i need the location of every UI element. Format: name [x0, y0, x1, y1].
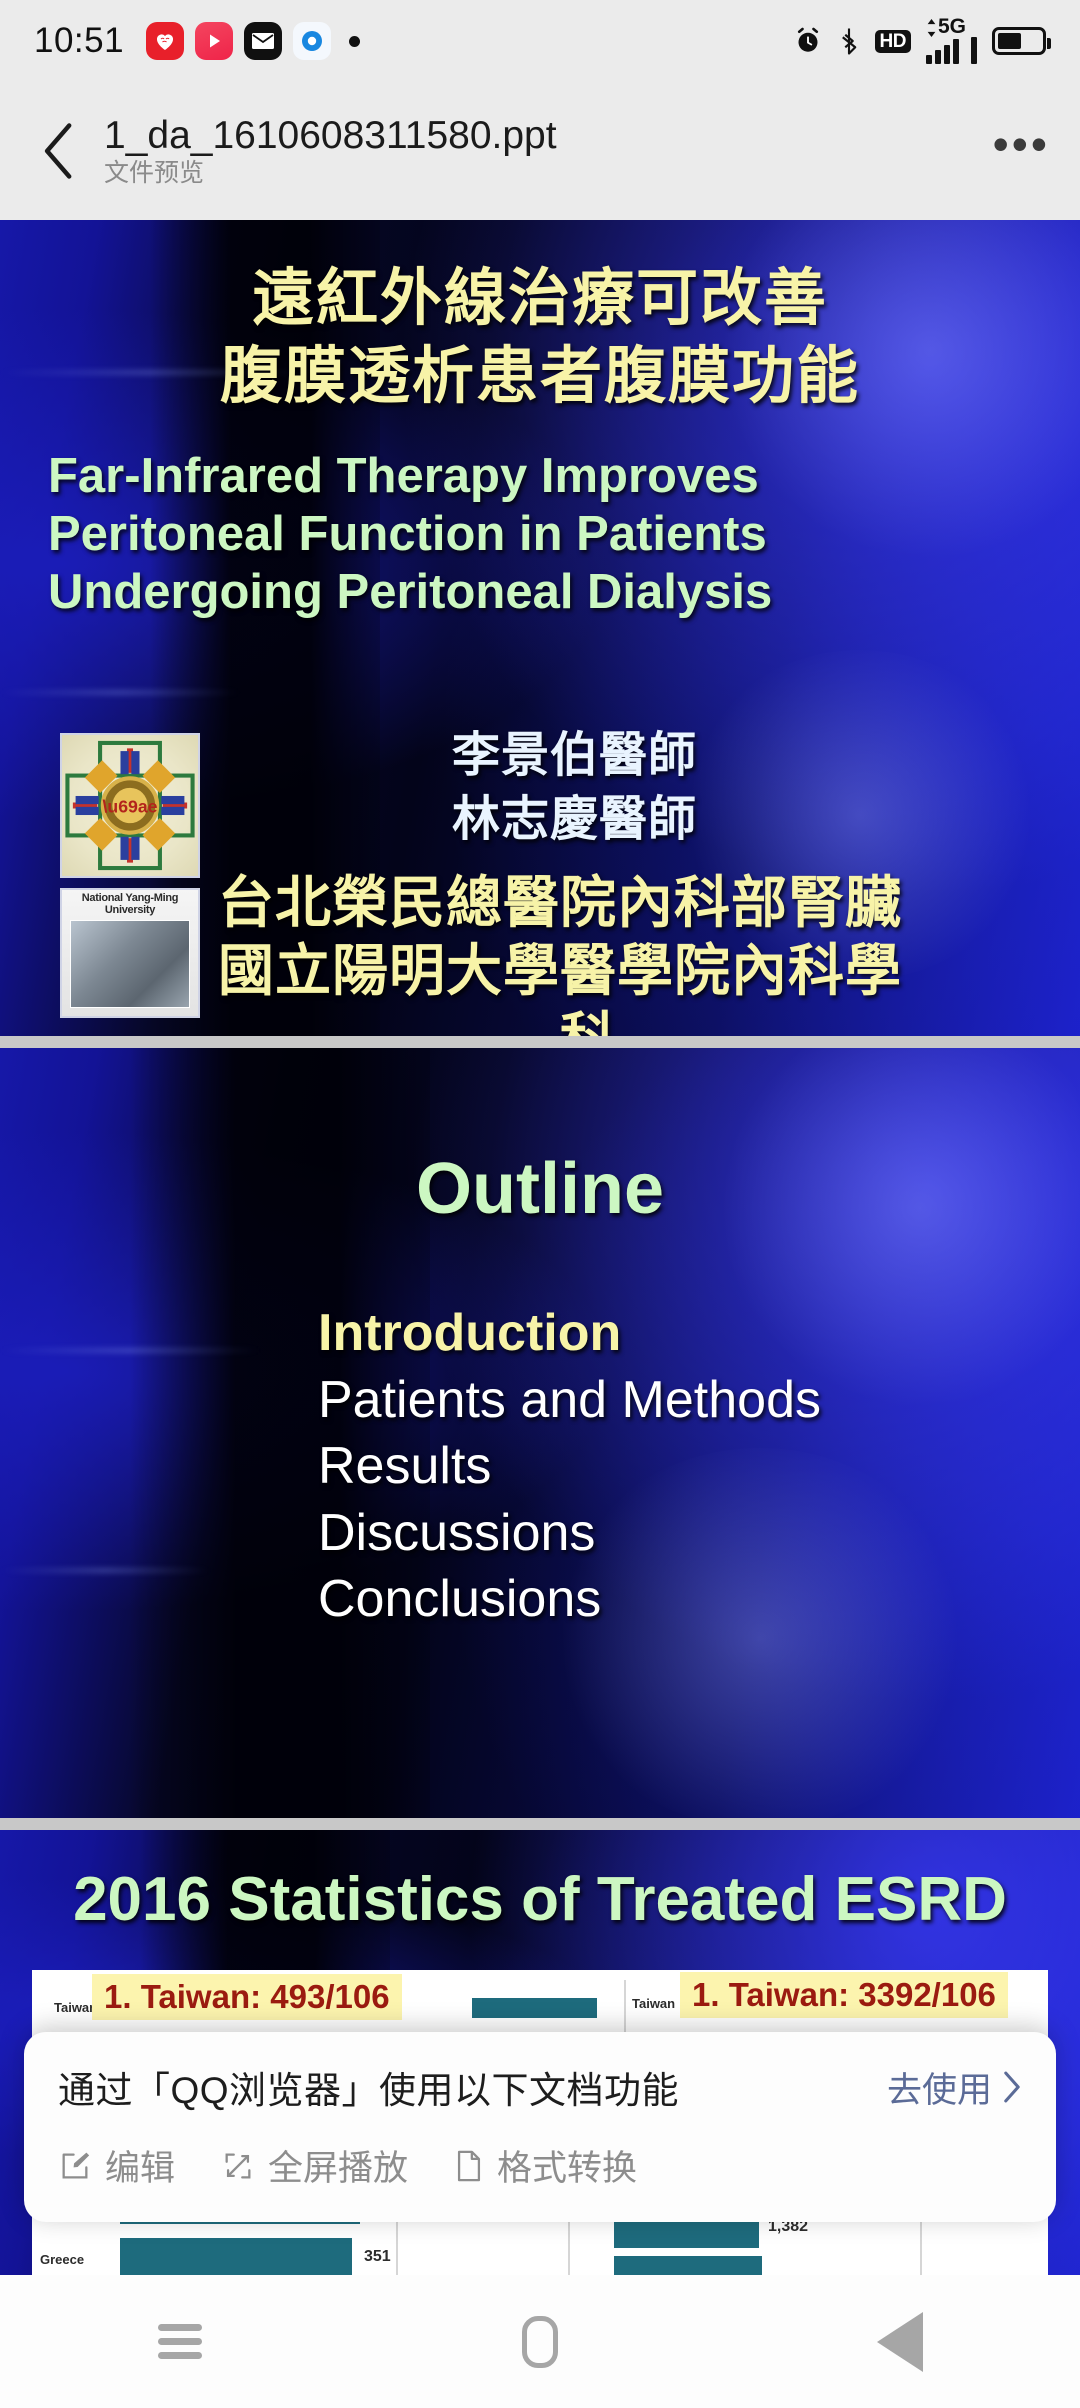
- edit-icon: [58, 2149, 92, 2183]
- slide1-affiliation-3: 科: [560, 1008, 617, 1038]
- alarm-icon: [793, 26, 823, 56]
- svg-text:\u69ae: \u69ae: [102, 796, 157, 816]
- sheet-title: 通过「QQ浏览器」使用以下文档功能: [58, 2060, 679, 2114]
- axis-label-greece: Greece: [40, 2252, 84, 2267]
- file-convert-icon: [454, 2149, 484, 2183]
- list-item: Introduction: [318, 1300, 821, 1367]
- home-icon: [522, 2316, 558, 2368]
- browser-app-icon: [293, 22, 331, 60]
- edit-action-label: 编辑: [105, 2140, 175, 2191]
- header-title-group: 1_da_1610608311580.ppt 文件预览: [104, 116, 557, 186]
- slide1-cn-title-line1: 遠紅外線治療可改善: [0, 268, 1080, 330]
- back-button[interactable]: [30, 122, 88, 180]
- list-item: Conclusions: [318, 1566, 821, 1633]
- bar-left-top: [472, 1998, 597, 2018]
- list-item: Discussions: [318, 1500, 821, 1567]
- slide-outline[interactable]: Outline Introduction Patients and Method…: [0, 1048, 1080, 1818]
- bluetooth-icon: [838, 26, 860, 56]
- go-use-button[interactable]: 去使用: [887, 2062, 1022, 2113]
- qq-browser-prompt-sheet[interactable]: 通过「QQ浏览器」使用以下文档功能 去使用 编辑 全屏播放: [24, 2032, 1056, 2222]
- slide-separator-2: [0, 1818, 1080, 1830]
- slide1-en-title-line1: Far-Infrared Therapy Improves: [48, 448, 1028, 505]
- axis-label-taiwan-left: Taiwan: [54, 2000, 97, 2015]
- battery-icon: [992, 27, 1046, 55]
- slide1-affiliation-1: 台北榮民總醫院內科部腎臟: [218, 872, 902, 934]
- slide1-author-1: 李景伯醫師: [452, 728, 697, 785]
- yangming-logo-caption: National Yang-Ming University: [62, 890, 198, 916]
- sheet-actions-row: 编辑 全屏播放 格式转换: [58, 2140, 1022, 2191]
- fullscreen-action-button[interactable]: 全屏播放: [221, 2140, 408, 2191]
- app-header: 1_da_1610608311580.ppt 文件预览 •••: [0, 82, 1080, 220]
- callout-left: 1. Taiwan: 493/106: [92, 1974, 402, 2020]
- outline-heading: Outline: [0, 1148, 1080, 1230]
- back-triangle-icon: [877, 2312, 923, 2372]
- fullscreen-action-label: 全屏播放: [268, 2140, 408, 2191]
- slide1-author-2: 林志慶醫師: [452, 792, 697, 849]
- convert-action-label: 格式转换: [497, 2140, 637, 2191]
- slide1-en-title-line2: Peritoneal Function in Patients: [48, 506, 1028, 563]
- yangming-university-logo: National Yang-Ming University: [60, 888, 200, 1018]
- status-time: 10:51: [34, 21, 124, 61]
- slide-title[interactable]: 遠紅外線治療可改善 腹膜透析患者腹膜功能 Far-Infrared Therap…: [0, 220, 1080, 1038]
- sheet-header-row: 通过「QQ浏览器」使用以下文档功能 去使用: [58, 2060, 1022, 2114]
- bar-value-greece: 351: [364, 2248, 391, 2266]
- chevron-right-icon: [1002, 2070, 1022, 2104]
- bar-right-bottom: [614, 2256, 762, 2275]
- document-subtitle: 文件预览: [104, 161, 557, 186]
- video-play-app-icon: [195, 22, 233, 60]
- system-navigation-bar: [0, 2275, 1080, 2408]
- document-title: 1_da_1610608311580.ppt: [104, 116, 557, 155]
- home-button[interactable]: [360, 2316, 720, 2368]
- vghtpe-emblem-logo: \u69ae: [60, 733, 200, 878]
- heart-brain-app-icon: [146, 22, 184, 60]
- convert-action-button[interactable]: 格式转换: [454, 2140, 637, 2191]
- axis-label-taiwan-right: Taiwan: [632, 1996, 675, 2011]
- status-app-icons: [146, 22, 360, 60]
- 5g-signal-icon: 5G: [926, 19, 977, 64]
- hamburger-icon: [158, 2317, 202, 2366]
- list-item: Patients and Methods: [318, 1367, 821, 1434]
- status-system-icons: HD 5G: [793, 19, 1046, 64]
- slide-separator-1: [0, 1036, 1080, 1048]
- bar-greece: [120, 2238, 352, 2275]
- hd-icon: HD: [875, 30, 911, 53]
- slide1-affiliation-2: 國立陽明大學醫學院內科學: [218, 940, 902, 1002]
- go-use-label: 去使用: [887, 2062, 992, 2113]
- back-button[interactable]: [720, 2312, 1080, 2372]
- edit-action-button[interactable]: 编辑: [58, 2140, 175, 2191]
- fullscreen-icon: [221, 2149, 255, 2183]
- outline-list: Introduction Patients and Methods Result…: [318, 1300, 821, 1633]
- yangming-logo-image: [70, 920, 190, 1008]
- esrd-heading: 2016 Statistics of Treated ESRD: [0, 1864, 1080, 1935]
- more-options-button[interactable]: •••: [993, 135, 1050, 167]
- recents-button[interactable]: [0, 2317, 360, 2366]
- slide1-en-title-line3: Undergoing Peritoneal Dialysis: [48, 564, 1028, 621]
- list-item: Results: [318, 1433, 821, 1500]
- mail-app-icon: [244, 22, 282, 60]
- notification-dot-icon: [349, 36, 360, 47]
- callout-right: 1. Taiwan: 3392/106: [680, 1972, 1008, 2018]
- status-bar: 10:51 HD 5G: [0, 0, 1080, 82]
- slide1-cn-title-line2: 腹膜透析患者腹膜功能: [0, 346, 1080, 408]
